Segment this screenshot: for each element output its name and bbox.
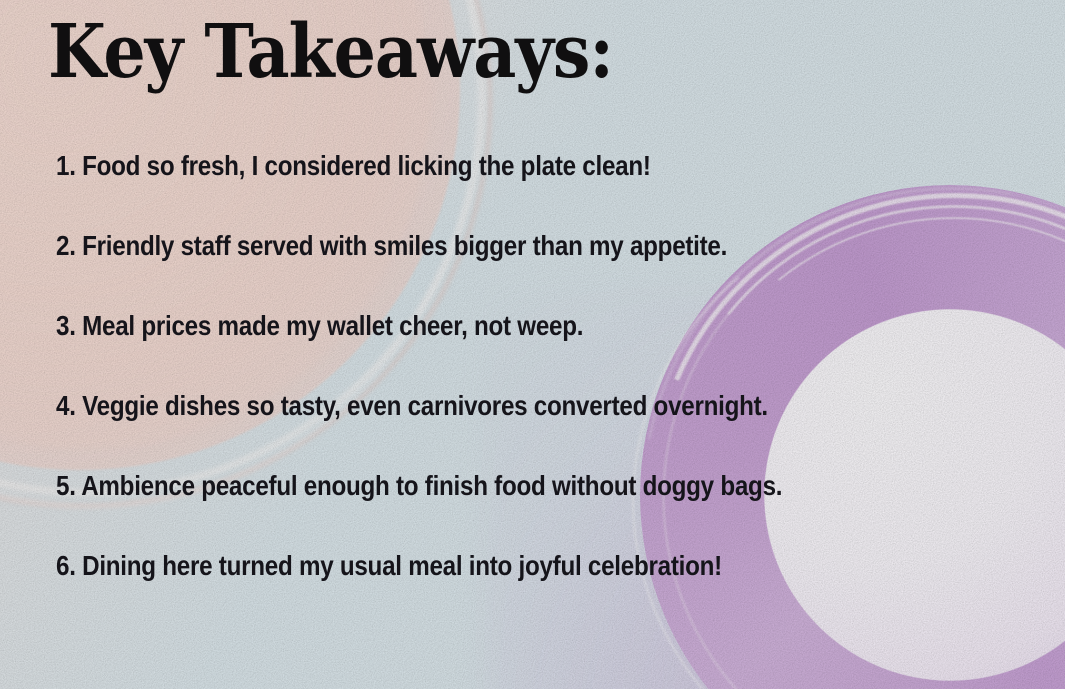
list-item: 1. Food so fresh, I considered licking t… (56, 152, 883, 232)
list-item: 4. Veggie dishes so tasty, even carnivor… (56, 392, 883, 472)
content-layer: Key Takeaways: 1. Food so fresh, I consi… (0, 0, 1065, 689)
list-item: 6. Dining here turned my usual meal into… (56, 552, 883, 632)
list-item: 2. Friendly staff served with smiles big… (56, 232, 883, 312)
takeaway-list: 1. Food so fresh, I considered licking t… (56, 152, 996, 632)
page-title: Key Takeaways: (48, 14, 613, 92)
list-item: 5. Ambience peaceful enough to finish fo… (56, 472, 883, 552)
list-item: 3. Meal prices made my wallet cheer, not… (56, 312, 883, 392)
key-takeaways-graphic: Key Takeaways: 1. Food so fresh, I consi… (0, 0, 1065, 689)
